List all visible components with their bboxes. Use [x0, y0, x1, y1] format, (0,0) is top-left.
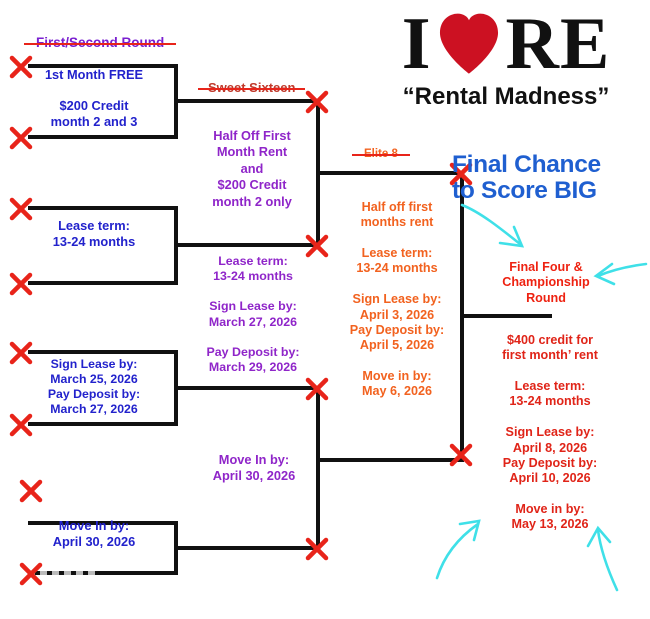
round-header-elite-8-label: Elite 8 — [352, 148, 410, 160]
logo: I RE “Rental Madness” — [368, 8, 644, 111]
x-mark — [12, 275, 30, 293]
x-mark — [308, 380, 326, 398]
round-header-elite-8: Elite 8 — [352, 148, 410, 160]
logo-wordmark: I RE — [368, 8, 644, 81]
round-header-sweet-sixteen: Sweet Sixteen — [198, 80, 305, 95]
logo-letters-re: RE — [506, 8, 611, 81]
round1-bracket-lines — [28, 66, 198, 573]
round-header-sweet-sixteen-label: Sweet Sixteen — [198, 80, 305, 95]
x-mark — [308, 93, 326, 111]
x-mark — [22, 565, 40, 583]
round-header-first-second: First/Second Round — [24, 35, 176, 50]
logo-letter-i: I — [402, 8, 432, 81]
cyan-arrow-up-left — [588, 528, 617, 590]
logo-tagline: “Rental Madness” — [368, 83, 644, 111]
round1-entry-a: 1st Month FREE $200 Credit month 2 and 3 — [18, 67, 170, 129]
x-mark — [12, 129, 30, 147]
round-header-first-second-label: First/Second Round — [24, 35, 176, 50]
round1-entry-b: Lease term: 13-24 months — [24, 218, 164, 249]
round2-entry-c: Move In by: April 30, 2026 — [190, 452, 318, 483]
heart-icon — [436, 11, 502, 77]
x-mark — [308, 237, 326, 255]
x-mark — [12, 416, 30, 434]
bracket-poster: I RE “Rental Madness” Final Chance to Sc… — [0, 0, 650, 619]
round2-entry-a: Half Off First Month Rent and $200 Credi… — [186, 128, 318, 210]
promo-headline: Final Chance to Score BIG — [452, 152, 650, 205]
x-mark — [22, 482, 40, 500]
round1-entry-d: Move In by: April 30, 2026 — [22, 518, 166, 549]
x-mark — [452, 446, 470, 464]
x-mark — [308, 540, 326, 558]
cyan-arrow-down-left — [462, 205, 522, 246]
x-mark — [12, 200, 30, 218]
round3-entry-a: Half off first months rent Lease term: 1… — [330, 200, 464, 400]
round4-entry-body: $400 credit for first month’ rent Lease … — [470, 333, 630, 533]
round1-entry-c: Sign Lease by: March 25, 2026 Pay Deposi… — [14, 357, 174, 417]
round-header-final-four: Final Four & Championship Round — [480, 260, 612, 306]
round2-entry-b: Lease term: 13-24 months Sign Lease by: … — [186, 254, 320, 375]
